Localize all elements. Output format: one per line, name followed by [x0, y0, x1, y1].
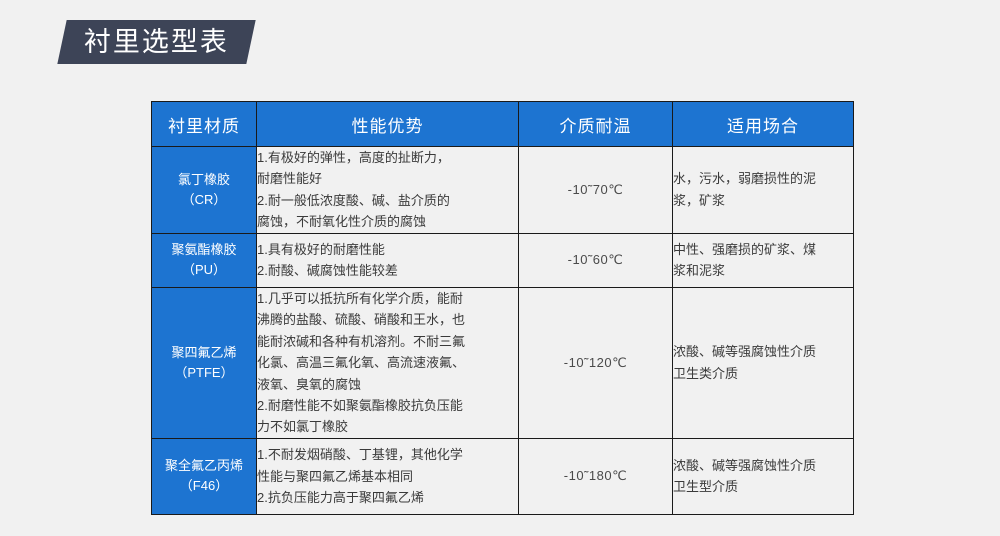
- cell-performance: 1.有极好的弹性，高度的扯断力， 耐磨性能好 2.耐一般低浓度酸、碱、盐介质的 …: [257, 147, 519, 234]
- performance-line: 化氯、高温三氟化氧、高流速液氟、: [257, 352, 518, 373]
- cell-temperature: -10˜120℃: [519, 287, 673, 438]
- column-header-performance: 性能优势: [257, 102, 519, 147]
- cell-performance: 1.不耐发烟硝酸、丁基锂，其他化学 性能与聚四氟乙烯基本相同 2.抗负压能力高于…: [257, 438, 519, 514]
- cell-application: 中性、强磨损的矿浆、煤 浆和泥浆: [673, 233, 854, 287]
- performance-line: 1.不耐发烟硝酸、丁基锂，其他化学: [257, 444, 518, 465]
- cell-material: 氯丁橡胶 （CR）: [152, 147, 257, 234]
- material-code: （PTFE）: [152, 363, 256, 383]
- column-header-application: 适用场合: [673, 102, 854, 147]
- application-line: 卫生类介质: [673, 363, 853, 384]
- performance-line: 1.有极好的弹性，高度的扯断力，: [257, 147, 518, 168]
- performance-line: 腐蚀，不耐氧化性介质的腐蚀: [257, 211, 518, 232]
- table-header-row: 衬里材质 性能优势 介质耐温 适用场合: [152, 102, 854, 147]
- table-header: 衬里材质 性能优势 介质耐温 适用场合: [152, 102, 854, 147]
- performance-line: 2.耐一般低浓度酸、碱、盐介质的: [257, 190, 518, 211]
- application-line: 浆和泥浆: [673, 260, 853, 281]
- performance-line: 2.抗负压能力高于聚四氟乙烯: [257, 487, 518, 508]
- table-row: 聚氨酯橡胶 （PU） 1.具有极好的耐磨性能 2.耐酸、碱腐蚀性能较差 -10˜…: [152, 233, 854, 287]
- performance-line: 能耐浓碱和各种有机溶剂。不耐三氟: [257, 331, 518, 352]
- cell-temperature: -10˜60℃: [519, 233, 673, 287]
- cell-application: 水，污水，弱磨损性的泥 浆，矿浆: [673, 147, 854, 234]
- material-name: 聚四氟乙烯: [152, 343, 256, 363]
- cell-material: 聚四氟乙烯 （PTFE）: [152, 287, 257, 438]
- application-line: 浓酸、碱等强腐蚀性介质: [673, 455, 853, 476]
- application-line: 浓酸、碱等强腐蚀性介质: [673, 341, 853, 362]
- column-header-temperature: 介质耐温: [519, 102, 673, 147]
- cell-application: 浓酸、碱等强腐蚀性介质 卫生类介质: [673, 287, 854, 438]
- material-code: （F46）: [152, 476, 256, 496]
- material-name: 氯丁橡胶: [152, 170, 256, 190]
- application-line: 中性、强磨损的矿浆、煤: [673, 239, 853, 260]
- performance-line: 性能与聚四氟乙烯基本相同: [257, 466, 518, 487]
- application-line: 卫生型介质: [673, 476, 853, 497]
- material-name: 聚氨酯橡胶: [152, 240, 256, 260]
- cell-temperature: -10˜70℃: [519, 147, 673, 234]
- material-code: （CR）: [152, 190, 256, 210]
- performance-line: 2.耐酸、碱腐蚀性能较差: [257, 260, 518, 281]
- performance-line: 1.几乎可以抵抗所有化学介质，能耐: [257, 288, 518, 309]
- cell-performance: 1.具有极好的耐磨性能 2.耐酸、碱腐蚀性能较差: [257, 233, 519, 287]
- performance-line: 1.具有极好的耐磨性能: [257, 239, 518, 260]
- banner-shape: 衬里选型表: [57, 20, 255, 64]
- material-code: （PU）: [152, 260, 256, 280]
- page-title-banner: 衬里选型表: [62, 20, 251, 64]
- column-header-material: 衬里材质: [152, 102, 257, 147]
- material-name: 聚全氟乙丙烯: [152, 456, 256, 476]
- performance-line: 沸腾的盐酸、硫酸、硝酸和王水，也: [257, 309, 518, 330]
- table-row: 聚四氟乙烯 （PTFE） 1.几乎可以抵抗所有化学介质，能耐 沸腾的盐酸、硫酸、…: [152, 287, 854, 438]
- application-line: 浆，矿浆: [673, 190, 853, 211]
- page-title: 衬里选型表: [84, 29, 229, 56]
- application-line: 水，污水，弱磨损性的泥: [673, 168, 853, 189]
- table-row: 聚全氟乙丙烯 （F46） 1.不耐发烟硝酸、丁基锂，其他化学 性能与聚四氟乙烯基…: [152, 438, 854, 514]
- cell-application: 浓酸、碱等强腐蚀性介质 卫生型介质: [673, 438, 854, 514]
- lining-selection-table: 衬里材质 性能优势 介质耐温 适用场合 氯丁橡胶 （CR） 1.有极好的弹性，高…: [151, 101, 854, 515]
- table-body: 氯丁橡胶 （CR） 1.有极好的弹性，高度的扯断力， 耐磨性能好 2.耐一般低浓…: [152, 147, 854, 515]
- table-row: 氯丁橡胶 （CR） 1.有极好的弹性，高度的扯断力， 耐磨性能好 2.耐一般低浓…: [152, 147, 854, 234]
- performance-line: 耐磨性能好: [257, 168, 518, 189]
- cell-material: 聚氨酯橡胶 （PU）: [152, 233, 257, 287]
- performance-line: 力不如氯丁橡胶: [257, 416, 518, 437]
- cell-material: 聚全氟乙丙烯 （F46）: [152, 438, 257, 514]
- performance-line: 液氧、臭氧的腐蚀: [257, 374, 518, 395]
- performance-line: 2.耐磨性能不如聚氨酯橡胶抗负压能: [257, 395, 518, 416]
- cell-performance: 1.几乎可以抵抗所有化学介质，能耐 沸腾的盐酸、硫酸、硝酸和王水，也 能耐浓碱和…: [257, 287, 519, 438]
- cell-temperature: -10˜180℃: [519, 438, 673, 514]
